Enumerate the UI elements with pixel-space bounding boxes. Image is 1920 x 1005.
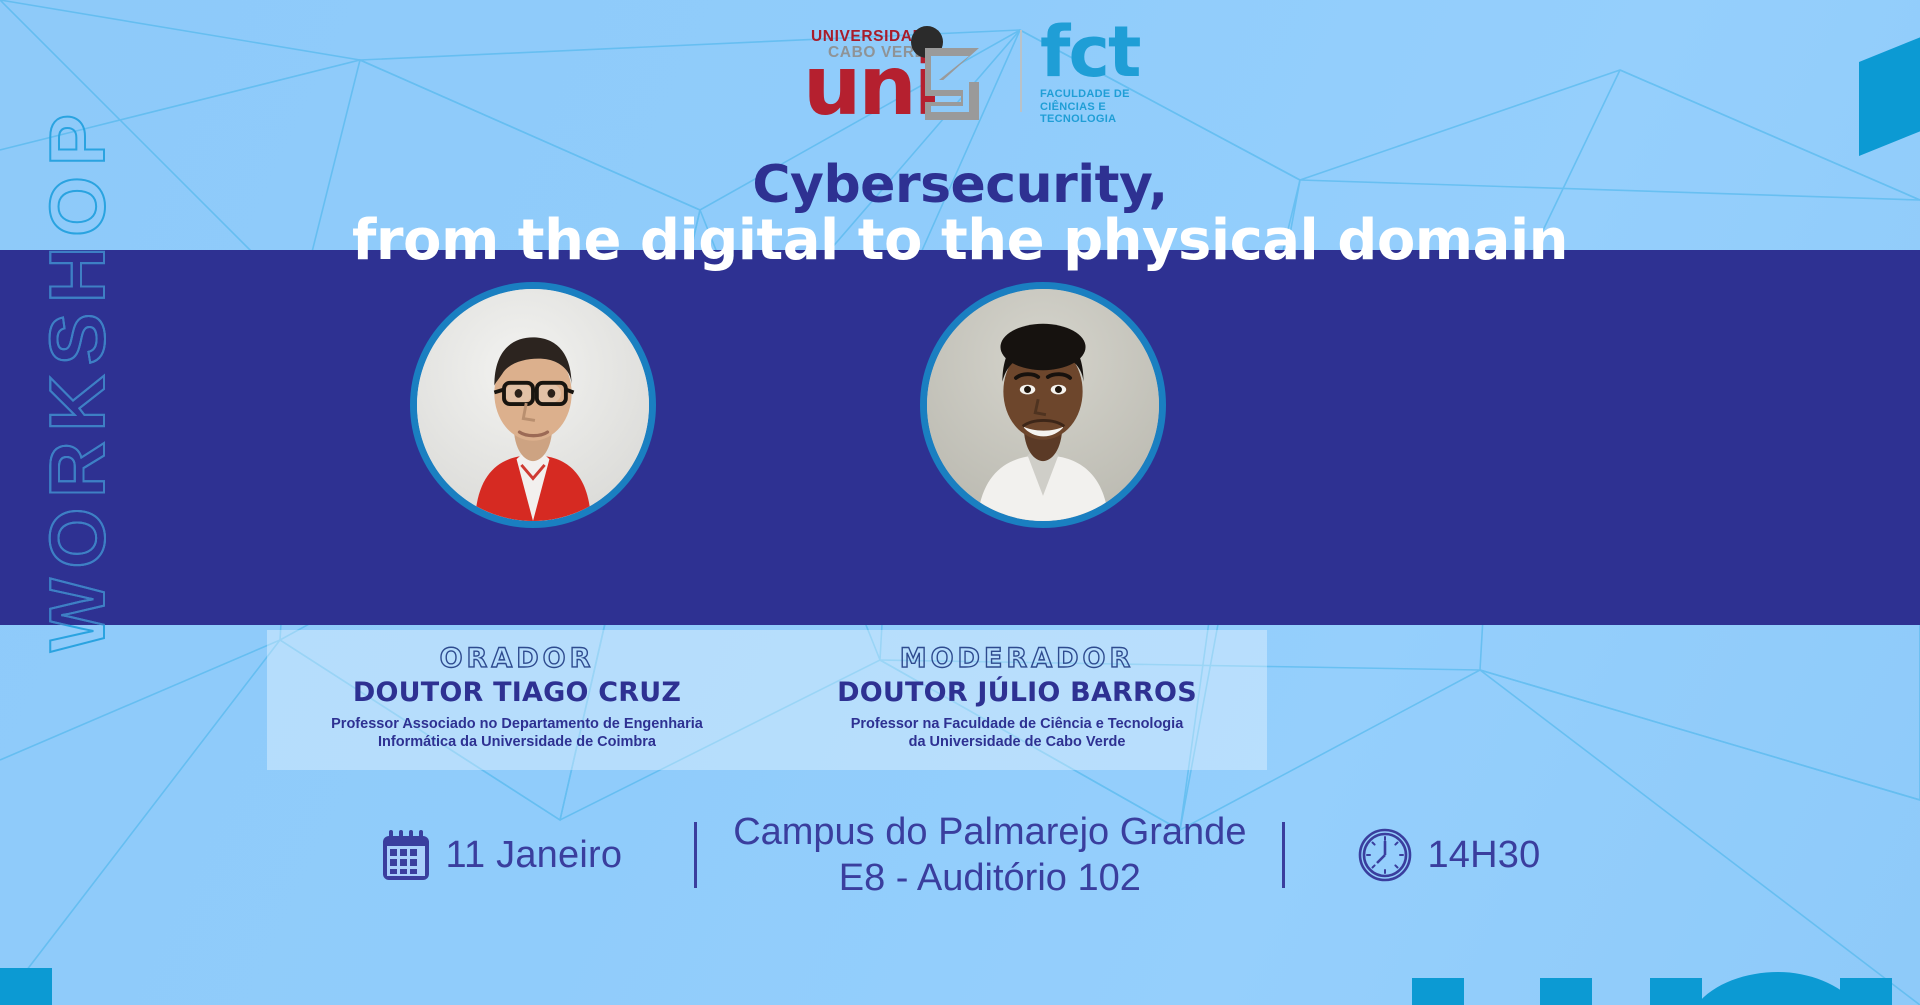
speaker-role-label: ORADOR [267,643,767,674]
event-title-line-2: from the digital to the physical domain [0,208,1920,273]
logo-fct-subtitle-line2: CIÊNCIAS E [1040,101,1150,114]
unicv-fct-logo: UNIVERSIDADE CABO VERDE uni fct FACULDAD… [795,10,1135,120]
event-time: 14H30 [1357,827,1540,883]
decorative-uni-wordmark-bottom [1400,970,1920,1005]
event-venue-line2: E8 - Auditório 102 [733,855,1246,901]
event-venue-line1: Campus do Palmarejo Grande [733,809,1246,855]
logo-fct-subtitle: FACULDADE DE CIÊNCIAS E TECNOLOGIA [1040,88,1150,126]
event-date: 11 Janeiro [380,828,623,882]
details-divider-left [694,822,697,888]
decorative-parallelogram-top-right [1859,35,1920,156]
decorative-square-bottom-left [0,968,52,1005]
speaker-info: ORADOR DOUTOR TIAGO CRUZ Professor Assoc… [267,630,767,751]
logo-uni-wordmark: uni [803,46,939,128]
moderator-info: MODERADOR DOUTOR JÚLIO BARROS Professor … [767,630,1267,751]
moderator-portrait-illustration [927,289,1159,521]
event-details-bar: 11 Janeiro Campus do Palmarejo Grande E8… [0,800,1920,910]
logo-cv-mark [921,46,1001,122]
calendar-icon [380,828,432,882]
logo-divider [1020,30,1022,112]
people-panel: ORADOR DOUTOR TIAGO CRUZ Professor Assoc… [267,630,1267,770]
logo-fct-subtitle-line3: TECNOLOGIA [1040,113,1150,126]
moderator-affiliation-line2: da Universidade de Cabo Verde [767,733,1267,751]
event-poster: WORKSHOP WORKSHOP UNIVERSIDADE CABO VERD… [0,0,1920,1005]
details-divider-right [1282,822,1285,888]
fct-logo: fct FACULDADE DE CIÊNCIAS E TECNOLOGIA [1040,18,1150,126]
speaker-name: DOUTOR TIAGO CRUZ [267,677,767,708]
moderator-role-label: MODERADOR [767,643,1267,674]
speaker-portrait-illustration [417,289,649,521]
moderator-affiliation-line1: Professor na Faculdade de Ciência e Tecn… [767,715,1267,733]
moderator-affiliation: Professor na Faculdade de Ciência e Tecn… [767,715,1267,751]
unicv-logo: UNIVERSIDADE CABO VERDE uni [795,12,1010,120]
speaker-photo [410,282,656,528]
speaker-affiliation-line2: Informática da Universidade de Coimbra [267,733,767,751]
event-venue: Campus do Palmarejo Grande E8 - Auditóri… [733,809,1246,901]
moderator-name: DOUTOR JÚLIO BARROS [767,677,1267,708]
event-time-text: 14H30 [1427,834,1540,877]
speaker-affiliation-line1: Professor Associado no Departamento de E… [267,715,767,733]
speaker-affiliation: Professor Associado no Departamento de E… [267,715,767,751]
logo-fct-wordmark: fct [1040,18,1150,86]
clock-icon [1357,827,1413,883]
event-date-text: 11 Janeiro [446,834,623,877]
moderator-photo [920,282,1166,528]
event-title-line-1: Cybersecurity, [0,155,1920,215]
